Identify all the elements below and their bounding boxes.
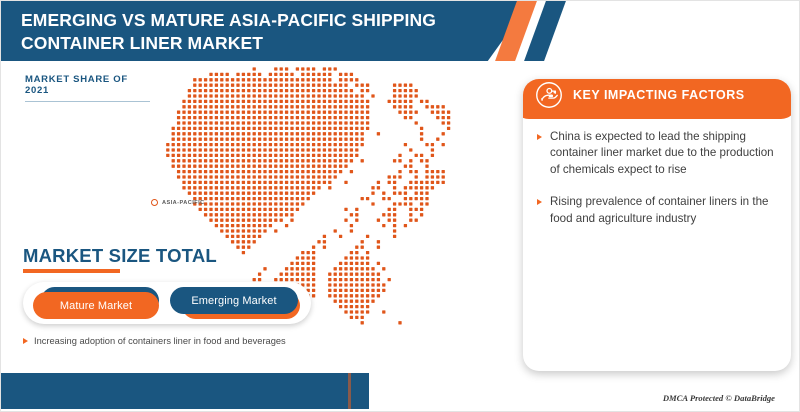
triangle-bullet-icon — [23, 338, 28, 344]
left-bullet-item: Increasing adoption of containers liner … — [23, 335, 286, 347]
map-legend: ASIA-PACIFIC — [151, 199, 205, 206]
left-bullet-text: Increasing adoption of containers liner … — [34, 335, 286, 347]
bottom-banner — [1, 373, 353, 409]
market-size-total-title: MARKET SIZE TOTAL — [23, 245, 217, 267]
hand-holding-key-icon — [535, 81, 563, 109]
key-factor-text: China is expected to lead the shipping c… — [550, 129, 775, 178]
market-size-total-underline — [23, 269, 120, 273]
bottom-banner-tail — [351, 373, 369, 409]
key-factor-item: China is expected to lead the shipping c… — [537, 129, 775, 178]
emerging-market-button-group[interactable]: Emerging Market — [170, 287, 305, 319]
key-panel-header: KEY IMPACTING FACTORS — [523, 79, 791, 119]
bottom-banner-divider — [348, 373, 351, 409]
key-impacting-factors-panel: KEY IMPACTING FACTORS China is expected … — [523, 79, 791, 371]
triangle-bullet-icon — [537, 134, 542, 140]
key-panel-title: KEY IMPACTING FACTORS — [573, 88, 745, 102]
triangle-bullet-icon — [537, 199, 542, 205]
market-share-label: MARKET SHARE OF 2021 — [25, 74, 150, 102]
market-size-pill-container: Mature Market Emerging Market — [23, 282, 311, 324]
key-factors-list: China is expected to lead the shipping c… — [523, 129, 791, 243]
key-factor-text: Rising prevalence of container liners in… — [550, 194, 775, 227]
map-legend-label: ASIA-PACIFIC — [162, 200, 205, 206]
footer-credit: DMCA Protected © DataBridge — [663, 393, 775, 403]
key-factor-item: Rising prevalence of container liners in… — [537, 194, 775, 227]
page-title: EMERGING VS MATURE ASIA-PACIFIC SHIPPING… — [21, 9, 491, 55]
mature-market-button[interactable]: Mature Market — [33, 292, 159, 319]
circle-outline-icon — [151, 199, 158, 206]
mature-market-button-group[interactable]: Mature Market — [33, 287, 165, 319]
emerging-market-button[interactable]: Emerging Market — [170, 287, 298, 314]
infographic-page: EMERGING VS MATURE ASIA-PACIFIC SHIPPING… — [0, 0, 800, 412]
